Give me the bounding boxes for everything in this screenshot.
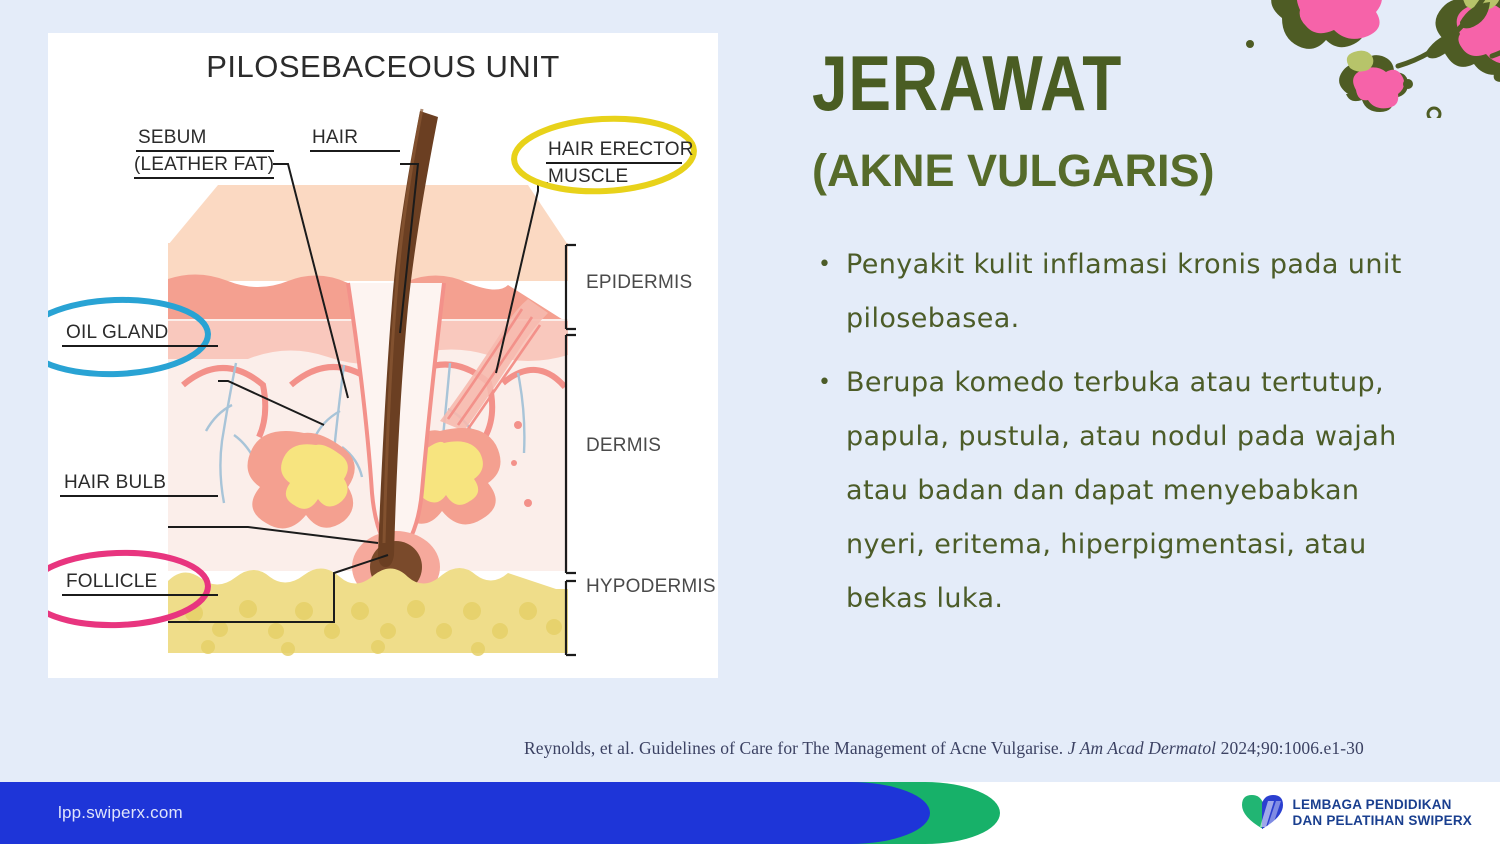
- label-dermis: DERMIS: [586, 435, 661, 457]
- page-subtitle: (AKNE VULGARIS): [812, 148, 1215, 193]
- label-hypodermis: HYPODERMIS: [586, 576, 716, 598]
- decorative-corner-mark-top-left: [14, 0, 224, 22]
- citation-part1: Reynolds, et al. Guidelines of Care for …: [524, 738, 1063, 758]
- slide: PILOSEBACEOUS UNIT: [0, 0, 1500, 844]
- bullet-marker-icon: •: [818, 238, 831, 292]
- decorative-flowers-icon: [1230, 0, 1500, 118]
- bullet-marker-icon: •: [818, 356, 831, 410]
- swiperx-logo-icon: [1240, 793, 1284, 833]
- diagram-card: PILOSEBACEOUS UNIT: [48, 33, 718, 678]
- list-item: • Penyakit kulit inflamasi kronis pada u…: [806, 238, 1426, 346]
- citation-part2: 2024;90:1006.e1-30: [1221, 738, 1364, 758]
- list-item: • Berupa komedo terbuka atau tertutup, p…: [806, 356, 1426, 626]
- label-sebum-line2: (LEATHER FAT): [134, 154, 274, 176]
- label-sebum-line1: SEBUM: [138, 127, 207, 149]
- bullet-text: Berupa komedo terbuka atau tertutup, pap…: [846, 367, 1397, 614]
- bullet-list: • Penyakit kulit inflamasi kronis pada u…: [806, 238, 1426, 636]
- brand-logo-line2: DAN PELATIHAN SWIPERX: [1293, 813, 1472, 829]
- label-hair: HAIR: [312, 127, 358, 149]
- label-follicle: FOLLICLE: [66, 571, 157, 593]
- citation: Reynolds, et al. Guidelines of Care for …: [524, 738, 1464, 759]
- label-oil-gland: OIL GLAND: [66, 322, 168, 344]
- label-epidermis: EPIDERMIS: [586, 272, 692, 294]
- citation-journal: J Am Acad Dermatol: [1068, 738, 1216, 758]
- page-title: JERAWAT: [812, 48, 1122, 120]
- label-hair-erector-line2: MUSCLE: [548, 166, 628, 188]
- brand-logo-text: LEMBAGA PENDIDIKAN DAN PELATIHAN SWIPERX: [1293, 797, 1472, 829]
- brand-logo-line1: LEMBAGA PENDIDIKAN: [1293, 797, 1472, 813]
- footer: lpp.swiperx.com LEMBAGA PENDIDIKAN DAN P…: [0, 782, 1500, 844]
- footer-url[interactable]: lpp.swiperx.com: [58, 782, 183, 844]
- skin-cross-section: [168, 109, 568, 656]
- bullet-text: Penyakit kulit inflamasi kronis pada uni…: [846, 249, 1402, 334]
- label-hair-erector-line1: HAIR ERECTOR: [548, 139, 694, 161]
- label-hair-bulb: HAIR BULB: [64, 472, 166, 494]
- brand-logo: LEMBAGA PENDIDIKAN DAN PELATIHAN SWIPERX: [1240, 791, 1472, 835]
